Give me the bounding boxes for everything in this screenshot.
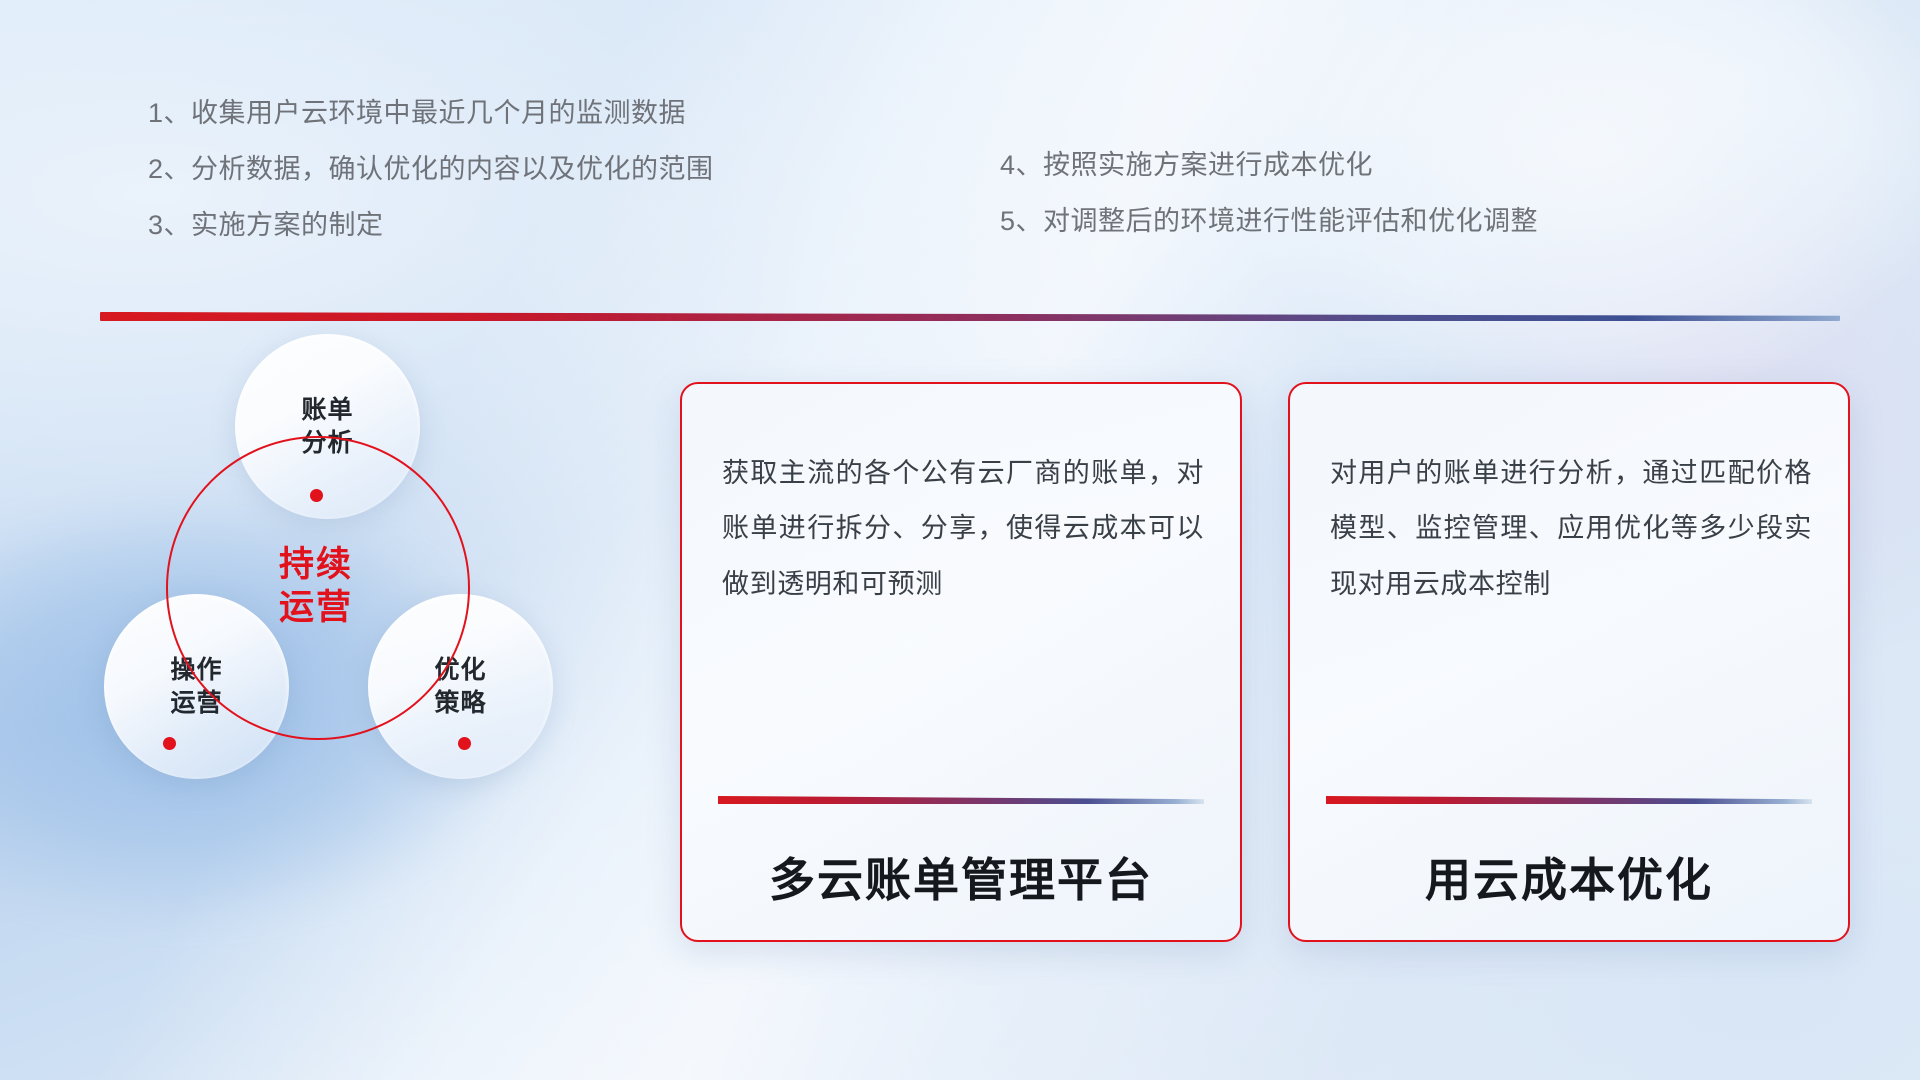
venn-core-label-line-1: 持续 [279,543,353,586]
card-body-text: 获取主流的各个公有云厂商的账单，对账单进行拆分、分享，使得云成本可以做到透明和可… [722,446,1204,612]
step-item-4: 4、按照实施方案进行成本优化 [1000,152,1538,179]
card-divider-bar [718,796,1204,804]
venn-label-line-1: 账单 [235,394,420,427]
venn-node-dot-bottom-left [163,737,176,750]
card-body-text: 对用户的账单进行分析，通过匹配价格模型、监控管理、应用优化等多少段实现对用云成本… [1330,446,1812,612]
step-item-2: 2、分析数据，确认优化的内容以及优化的范围 [148,156,714,183]
steps-list-right: 4、按照实施方案进行成本优化 5、对调整后的环境进行性能评估和优化调整 [1000,152,1538,264]
card-title: 多云账单管理平台 [718,844,1204,910]
steps-list-left: 1、收集用户云环境中最近几个月的监测数据 2、分析数据，确认优化的内容以及优化的… [148,100,714,268]
card-title: 用云成本优化 [1326,844,1812,910]
card-divider-bar [1326,796,1812,804]
step-item-3: 3、实施方案的制定 [148,212,714,239]
card-body-wrap: 获取主流的各个公有云厂商的账单，对账单进行拆分、分享，使得云成本可以做到透明和可… [722,446,1204,612]
venn-diagram: 账单 分析 操作 运营 优化 策略 持续 运营 [90,340,630,920]
step-item-5: 5、对调整后的环境进行性能评估和优化调整 [1000,208,1538,235]
card-cloud-cost-optimization[interactable]: 对用户的账单进行分析，通过匹配价格模型、监控管理、应用优化等多少段实现对用云成本… [1288,382,1850,942]
card-body-wrap: 对用户的账单进行分析，通过匹配价格模型、监控管理、应用优化等多少段实现对用云成本… [1330,446,1812,612]
step-item-1: 1、收集用户云环境中最近几个月的监测数据 [148,100,714,127]
venn-core-label-line-2: 运营 [279,586,353,629]
venn-node-dot-bottom-right [458,737,471,750]
venn-core-label: 持续 运营 [166,436,466,736]
card-divider [1326,796,1812,804]
divider-bar [100,312,1840,321]
section-divider [100,312,1840,321]
venn-node-dot-top [310,489,323,502]
card-divider [718,796,1204,804]
card-multicloud-billing[interactable]: 获取主流的各个公有云厂商的账单，对账单进行拆分、分享，使得云成本可以做到透明和可… [680,382,1242,942]
